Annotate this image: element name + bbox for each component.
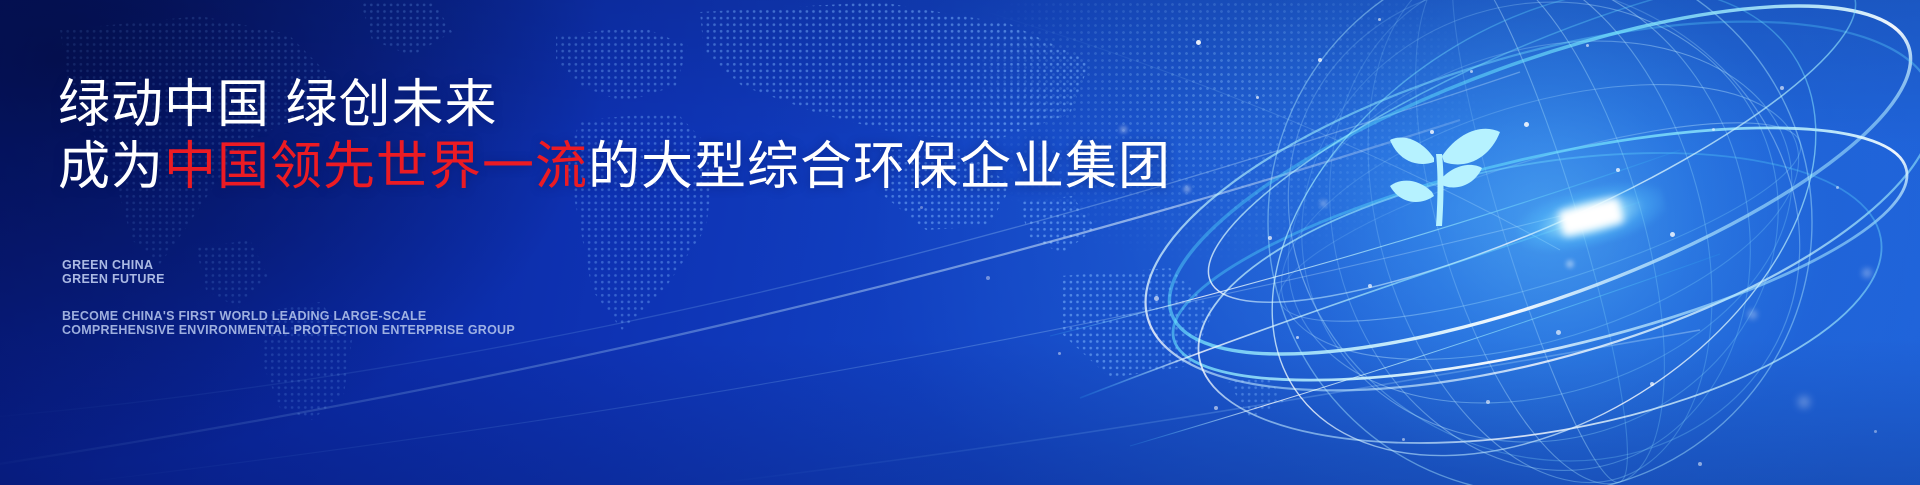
copy-block: 绿动中国 绿创未来 成为中国领先世界一流的大型综合环保企业集团 GREEN CH… [58, 0, 1058, 485]
headline-line-1: 绿动中国 绿创未来 [58, 74, 1171, 136]
headline-line-2-prefix: 成为 [58, 138, 164, 196]
headline-line-2-accent: 中国领先世界一流 [164, 138, 588, 196]
tagline-line-2: GREEN FUTURE [62, 272, 165, 286]
subline: BECOME CHINA'S FIRST WORLD LEADING LARGE… [62, 309, 515, 337]
hero-banner: 绿动中国 绿创未来 成为中国领先世界一流的大型综合环保企业集团 GREEN CH… [0, 0, 1920, 485]
headline-line-2-suffix: 的大型综合环保企业集团 [588, 138, 1171, 196]
subline-line-2: COMPREHENSIVE ENVIRONMENTAL PROTECTION E… [62, 323, 515, 337]
headline-line-2: 成为中国领先世界一流的大型综合环保企业集团 [58, 136, 1171, 198]
tagline-line-1: GREEN CHINA [62, 258, 165, 272]
tagline: GREEN CHINA GREEN FUTURE [62, 258, 165, 286]
subline-line-1: BECOME CHINA'S FIRST WORLD LEADING LARGE… [62, 309, 515, 323]
page-title: 绿动中国 绿创未来 成为中国领先世界一流的大型综合环保企业集团 [58, 74, 1171, 198]
